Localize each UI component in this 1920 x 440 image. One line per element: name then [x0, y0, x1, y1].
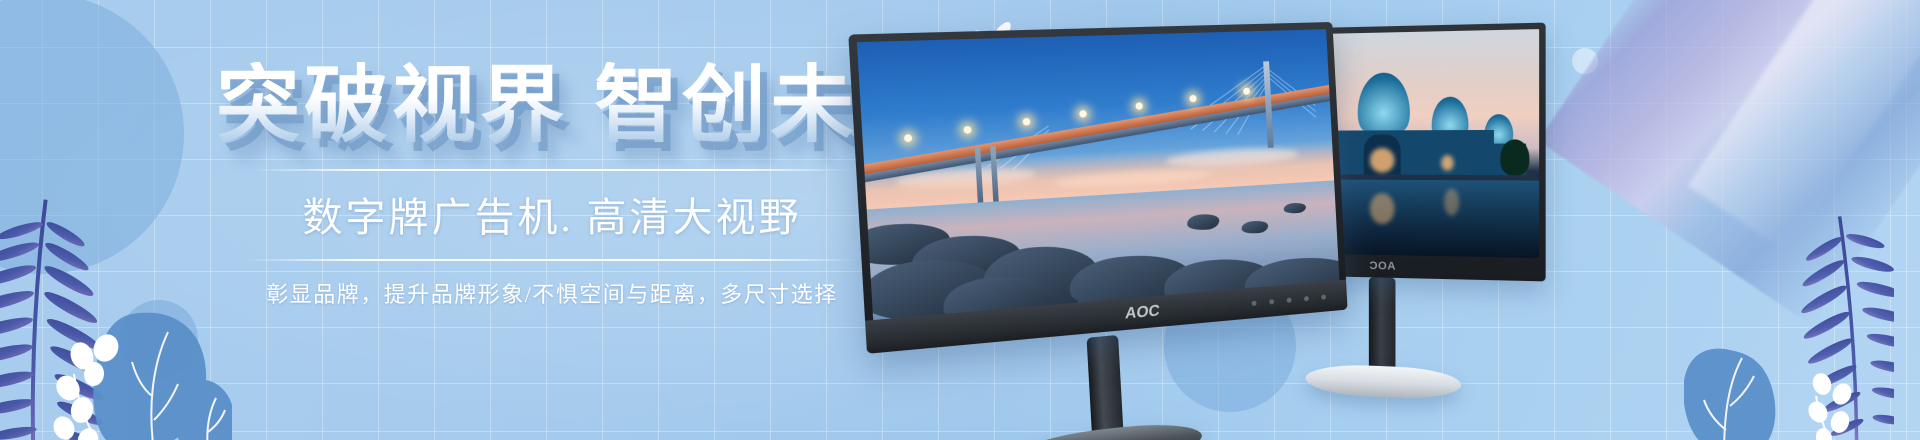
- osd-button[interactable]: [1269, 299, 1274, 304]
- monitor-secondary-logo: AOC: [1369, 260, 1396, 273]
- monitor-secondary-stand-neck: [1369, 277, 1396, 373]
- osd-button[interactable]: [1251, 301, 1256, 307]
- promo-banner: 突破视界智创未来 数字牌广告机. 高清大视野 彰显品牌，提升品牌形象/不惧空间与…: [0, 0, 1920, 440]
- headline-part-1: 突破视界: [216, 60, 568, 153]
- monitor-primary-screen: [857, 29, 1340, 320]
- monitor-secondary-stand-base: [1305, 363, 1461, 401]
- monitor-product-group: AOC: [880, 0, 1920, 440]
- banner-tagline: 彰显品牌，提升品牌形象/不惧空间与距离，多尺寸选择: [216, 277, 888, 309]
- monitor-primary: AOC: [848, 22, 1347, 354]
- osd-button[interactable]: [1304, 296, 1309, 301]
- banner-text-block: 突破视界智创未来 数字牌广告机. 高清大视野 彰显品牌，提升品牌形象/不惧空间与…: [216, 62, 888, 309]
- divider-top: [252, 169, 852, 171]
- power-button[interactable]: [1321, 294, 1326, 299]
- banner-subline: 数字牌广告机. 高清大视野: [216, 185, 888, 243]
- monitor-osd-buttons[interactable]: [1251, 294, 1326, 306]
- monitor-primary-stand-neck: [1087, 335, 1124, 439]
- page-title: 突破视界智创未来: [216, 62, 888, 151]
- monitor-primary-logo: AOC: [1124, 302, 1160, 323]
- bridge-at-dusk-photo: [857, 29, 1340, 320]
- decorative-circle-small-left: [120, 300, 198, 378]
- divider-bottom: [246, 259, 858, 261]
- decorative-circle-top-left: [0, 0, 184, 274]
- osd-button[interactable]: [1287, 297, 1292, 302]
